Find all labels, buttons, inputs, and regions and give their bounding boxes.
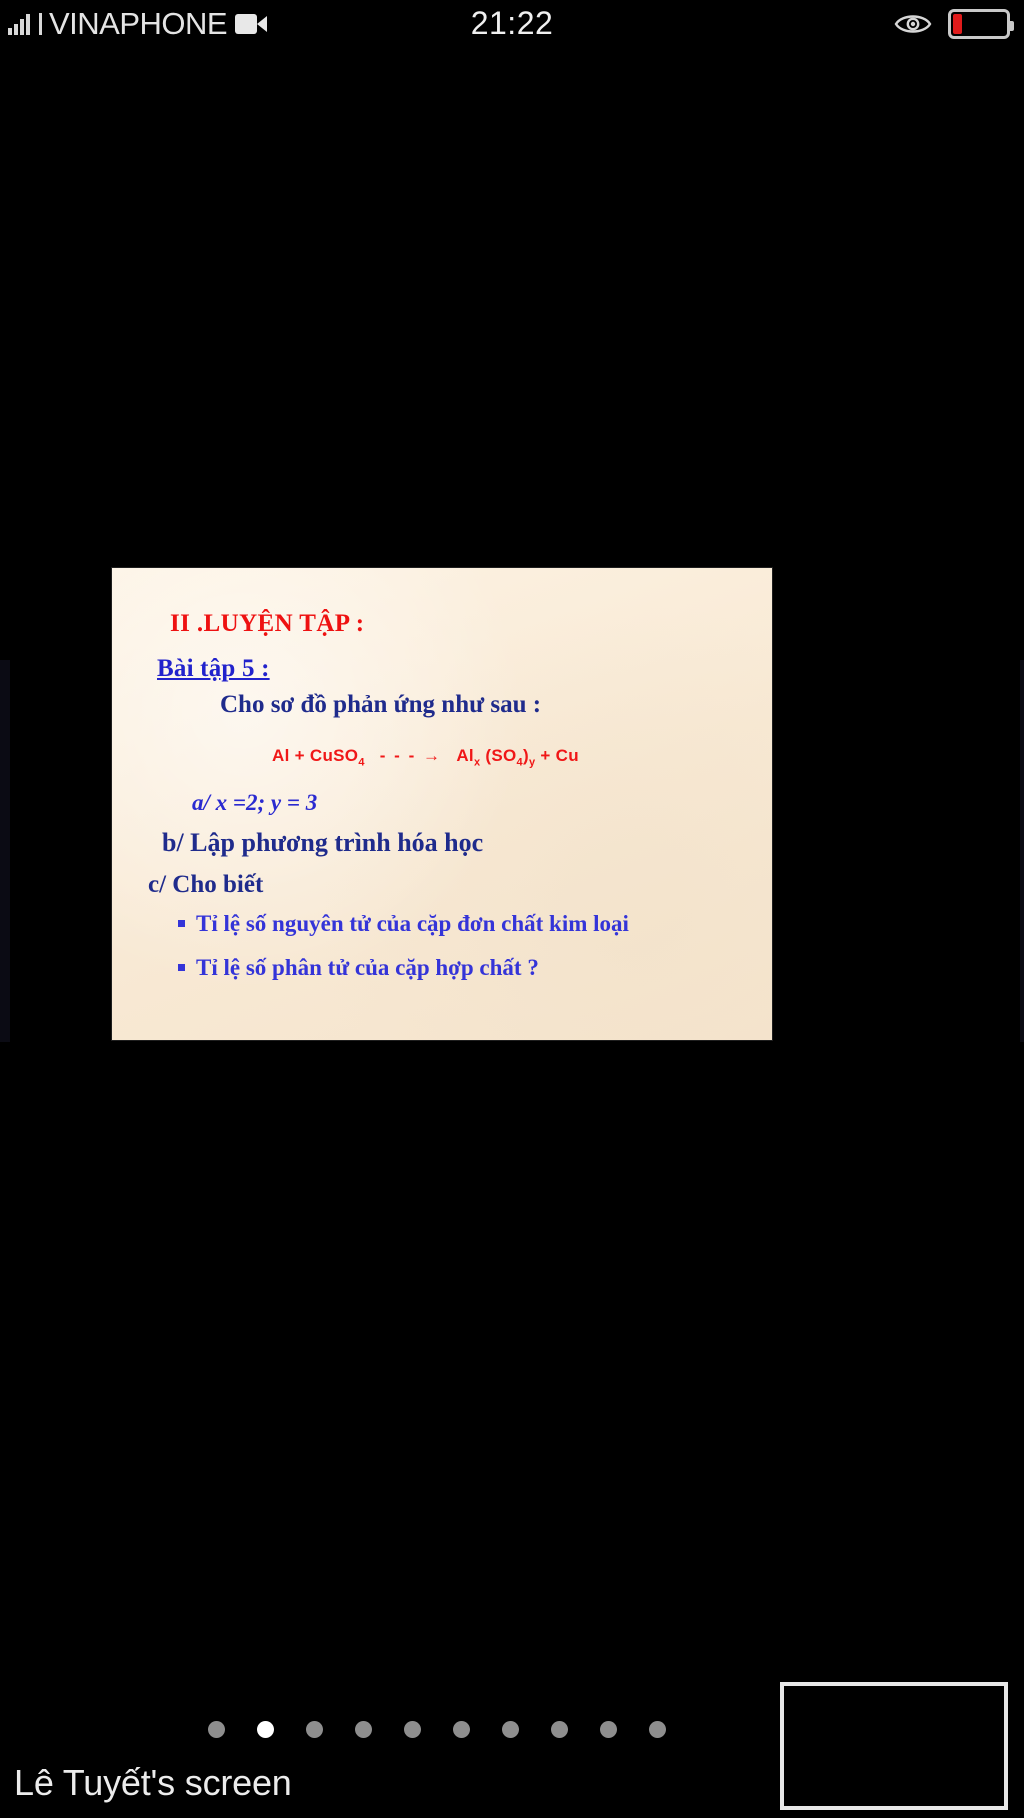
slide-subheading: Bài tập 5 :: [157, 655, 270, 683]
slide-answer-a: a/ x =2; y = 3: [192, 790, 317, 816]
participant-thumbnail-frame[interactable]: [780, 1682, 1008, 1810]
page-dot[interactable]: [453, 1721, 470, 1738]
slide-prompt: Cho sơ đồ phản ứng như sau :: [220, 691, 541, 719]
chemical-equation: Al + CuSO4 - - - → Alx (SO4)y + Cu: [272, 746, 579, 768]
equation-reactant-1: Al: [272, 746, 290, 765]
page-dot[interactable]: [600, 1721, 617, 1738]
page-dot[interactable]: [649, 1721, 666, 1738]
page-dot[interactable]: [306, 1721, 323, 1738]
page-dot[interactable]: [404, 1721, 421, 1738]
page-dot[interactable]: [551, 1721, 568, 1738]
status-bar-right-group: [894, 7, 1010, 41]
equation-product-2-subscript-2: y: [529, 756, 535, 768]
slide-bullet-1-label: Tỉ lệ số nguyên tử của cặp đơn chất kim …: [196, 911, 629, 936]
bullet-square-icon: [178, 964, 185, 971]
eye-icon: [894, 11, 932, 37]
slide-answer-b: b/ Lập phương trình hóa học: [162, 828, 483, 858]
equation-reactant-2: CuSO: [310, 746, 358, 765]
slide-bullet-1: Tỉ lệ số nguyên tử của cặp đơn chất kim …: [178, 911, 629, 937]
equation-arrow: - - - →: [380, 746, 442, 765]
bullet-square-icon: [178, 920, 185, 927]
equation-reactant-2-subscript: 4: [358, 756, 364, 768]
left-letterbox-band: [0, 660, 10, 1042]
slide-bullet-2-label: Tỉ lệ số phân tử của cặp hợp chất ?: [196, 955, 539, 980]
page-dot[interactable]: [208, 1721, 225, 1738]
page-dot[interactable]: [502, 1721, 519, 1738]
equation-plus-2: +: [540, 746, 550, 765]
equation-product-1-subscript: x: [474, 756, 480, 768]
page-dot-active[interactable]: [257, 1721, 274, 1738]
status-bar-clock: 21:22: [0, 5, 1024, 42]
page-indicator[interactable]: [208, 1721, 666, 1738]
equation-product-2: (SO: [485, 746, 516, 765]
slide-bullet-2: Tỉ lệ số phân tử của cặp hợp chất ?: [178, 955, 539, 981]
status-bar: VINAPHONE 21:22: [0, 0, 1024, 50]
slide-heading: II .LUYỆN TẬP :: [170, 610, 364, 638]
page-dot[interactable]: [355, 1721, 372, 1738]
bottom-bar: Lê Tuyết's screen: [0, 1655, 1024, 1818]
presentation-slide[interactable]: II .LUYỆN TẬP : Bài tập 5 : Cho sơ đồ ph…: [112, 568, 772, 1040]
equation-plus-1: +: [295, 746, 305, 765]
shared-screen-label: Lê Tuyết's screen: [14, 1762, 292, 1804]
shared-screen-stage[interactable]: II .LUYỆN TẬP : Bài tập 5 : Cho sơ đồ ph…: [0, 50, 1024, 1655]
slide-answer-c: c/ Cho biết: [148, 871, 263, 899]
battery-icon: [948, 9, 1010, 39]
equation-product-3: Cu: [556, 746, 579, 765]
equation-product-1: Al: [456, 746, 474, 765]
right-letterbox-band: [1020, 660, 1024, 1042]
